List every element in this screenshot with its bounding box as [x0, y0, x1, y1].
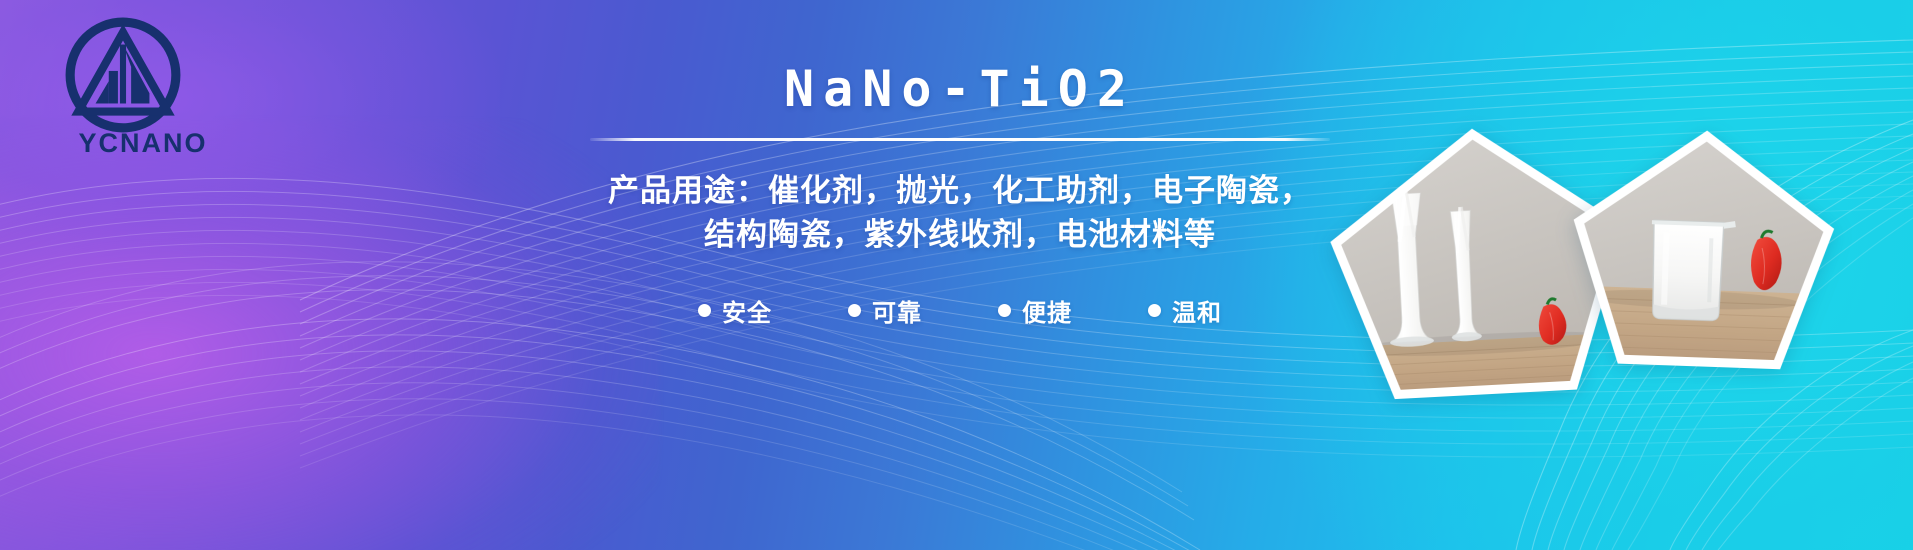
page-title: NaNo-TiO2: [560, 62, 1360, 116]
feature-item-safe: 安全: [698, 293, 772, 328]
banner-content: NaNo-TiO2 产品用途：催化剂，抛光，化工助剂，电子陶瓷， 结构陶瓷，紫外…: [560, 62, 1360, 328]
pentagon-photo-beaker-image: [1567, 125, 1839, 374]
feature-item-reliable: 可靠: [848, 293, 922, 328]
product-uses-line-1: 产品用途：催化剂，抛光，化工助剂，电子陶瓷，: [560, 169, 1360, 213]
feature-label: 可靠: [872, 293, 922, 328]
product-photo-group: [1293, 0, 1913, 550]
feature-list: 安全 可靠 便捷 温和: [560, 293, 1360, 328]
product-uses-line-2: 结构陶瓷，紫外线收剂，电池材料等: [560, 213, 1360, 257]
feature-item-convenient: 便捷: [998, 293, 1072, 328]
bullet-dot-icon: [998, 304, 1011, 317]
feature-label: 安全: [722, 293, 772, 328]
feature-label: 便捷: [1022, 293, 1072, 328]
company-logo[interactable]: YCNANO: [48, 14, 238, 164]
ycnano-triangle-circle-logo-icon: [62, 14, 184, 136]
bullet-dot-icon: [1148, 304, 1161, 317]
feature-item-mild: 温和: [1148, 293, 1222, 328]
bullet-dot-icon: [848, 304, 861, 317]
bullet-dot-icon: [698, 304, 711, 317]
product-banner: YCNANO NaNo-TiO2 产品用途：催化剂，抛光，化工助剂，电子陶瓷， …: [0, 0, 1913, 550]
logo-wordmark: YCNANO: [48, 128, 238, 159]
pentagon-photo-beaker[interactable]: [1567, 125, 1839, 374]
feature-label: 温和: [1172, 293, 1222, 328]
title-divider: [590, 138, 1330, 141]
product-uses: 产品用途：催化剂，抛光，化工助剂，电子陶瓷， 结构陶瓷，紫外线收剂，电池材料等: [560, 169, 1360, 257]
